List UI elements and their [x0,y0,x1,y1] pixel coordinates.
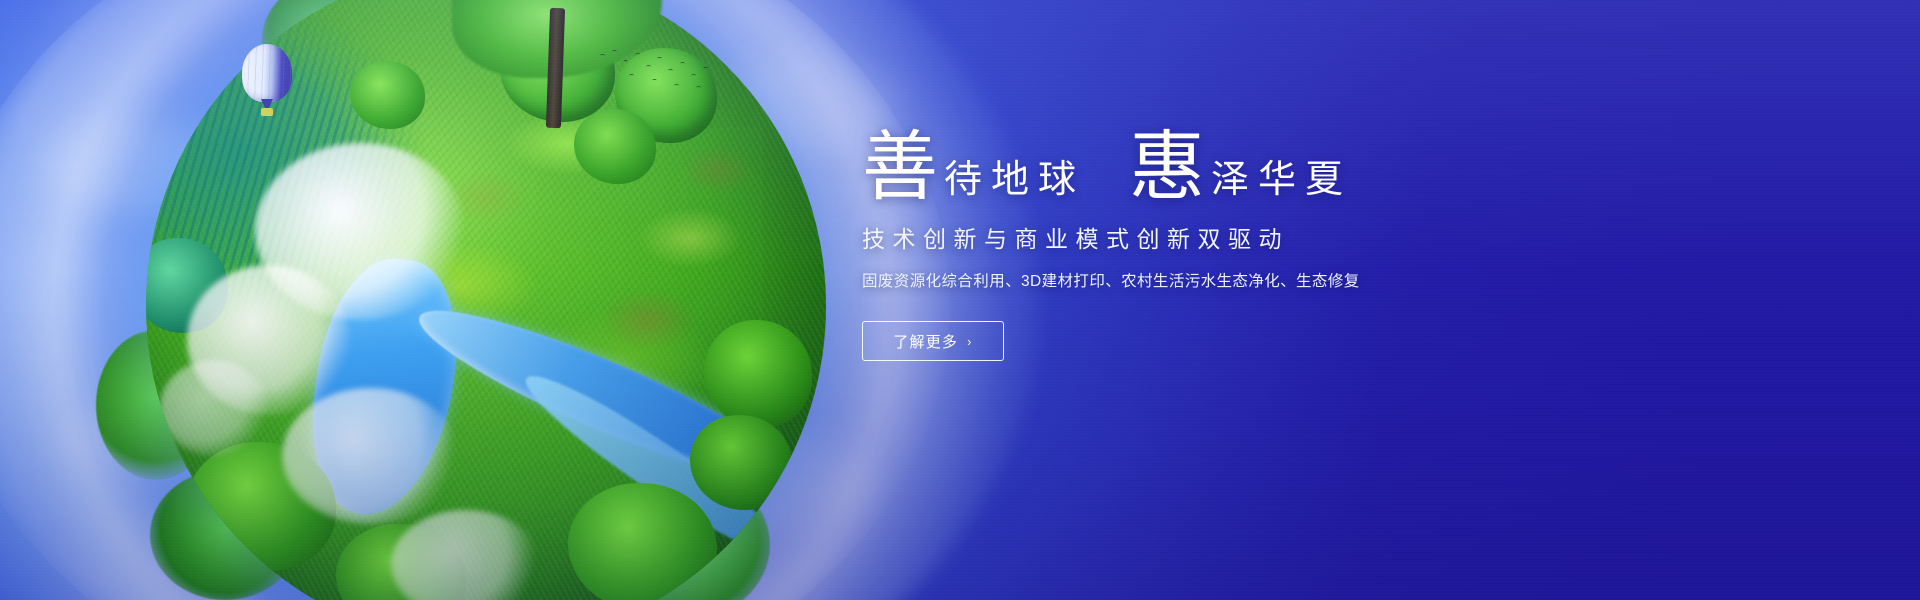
surface-cloud [160,360,269,455]
tree-canopy [690,415,792,510]
learn-more-button[interactable]: 了解更多 › [862,321,1004,361]
headline-rest-2: 泽华夏 [1211,161,1352,206]
hot-air-balloon [242,44,292,118]
flying-birds-flock [596,48,726,94]
headline-rest-1: 待地球 [944,161,1085,206]
hero-headline: 善 待地球 惠 泽华夏 [862,130,1502,206]
balloon-envelope [242,44,292,102]
learn-more-label: 了解更多 [893,331,958,352]
balloon-neck [261,99,273,108]
hero-tagline: 技术创新与商业模式创新双驱动 [862,222,1502,257]
hero-copy: 善 待地球 惠 泽华夏 技术创新与商业模式创新双驱动 固废资源化综合利用、3D建… [862,130,1502,361]
hero-description: 固废资源化综合利用、3D建材打印、农村生活污水生态净化、生态修复 [862,270,1502,295]
surface-cloud [282,388,459,524]
tree-canopy [350,61,425,129]
headline-char-2: 惠 [1129,130,1205,206]
headline-char-1: 善 [862,130,938,206]
chevron-right-icon: › [967,334,973,349]
balloon-basket [261,108,273,116]
tree-trunk [546,8,565,128]
hero-banner: 善 待地球 惠 泽华夏 技术创新与商业模式创新双驱动 固废资源化综合利用、3D建… [0,0,1920,600]
